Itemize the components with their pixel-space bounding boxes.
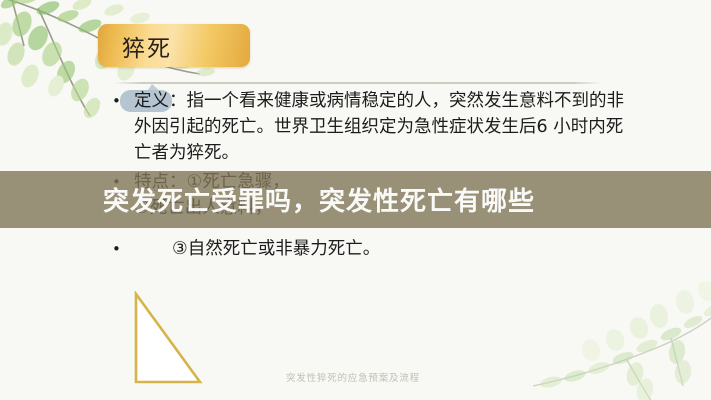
- slide-title-text: 猝死: [122, 29, 172, 63]
- bullet-item-natural-death: • ③自然死亡或非暴力死亡。: [112, 236, 632, 262]
- bullet-text: ③自然死亡或非暴力死亡。: [172, 236, 632, 262]
- overlay-banner-title: 突发死亡受罪吗，突发性死亡有哪些: [103, 181, 535, 218]
- slide-canvas: 猝死 • 定义：指一个看来健康或病情稳定的人，突然发生意料不到的非外因引起的死亡…: [0, 0, 711, 400]
- slide-title-badge: 猝死: [98, 24, 250, 67]
- bullet-marker: •: [112, 236, 172, 262]
- leaf-branch-icon: [531, 282, 711, 400]
- right-triangle-shape: [133, 291, 203, 385]
- watermark-text: 突发性猝死的应急预案及流程: [286, 370, 420, 384]
- title-divider: [113, 82, 602, 84]
- bullet-text: 定义：指一个看来健康或病情稳定的人，突然发生意料不到的非外因引起的死亡。世界卫生…: [134, 88, 632, 166]
- bullet-marker: •: [112, 88, 134, 114]
- overlay-banner: 突发死亡受罪吗，突发性死亡有哪些: [0, 171, 711, 228]
- bullet-item-definition: • 定义：指一个看来健康或病情稳定的人，突然发生意料不到的非外因引起的死亡。世界…: [112, 88, 632, 166]
